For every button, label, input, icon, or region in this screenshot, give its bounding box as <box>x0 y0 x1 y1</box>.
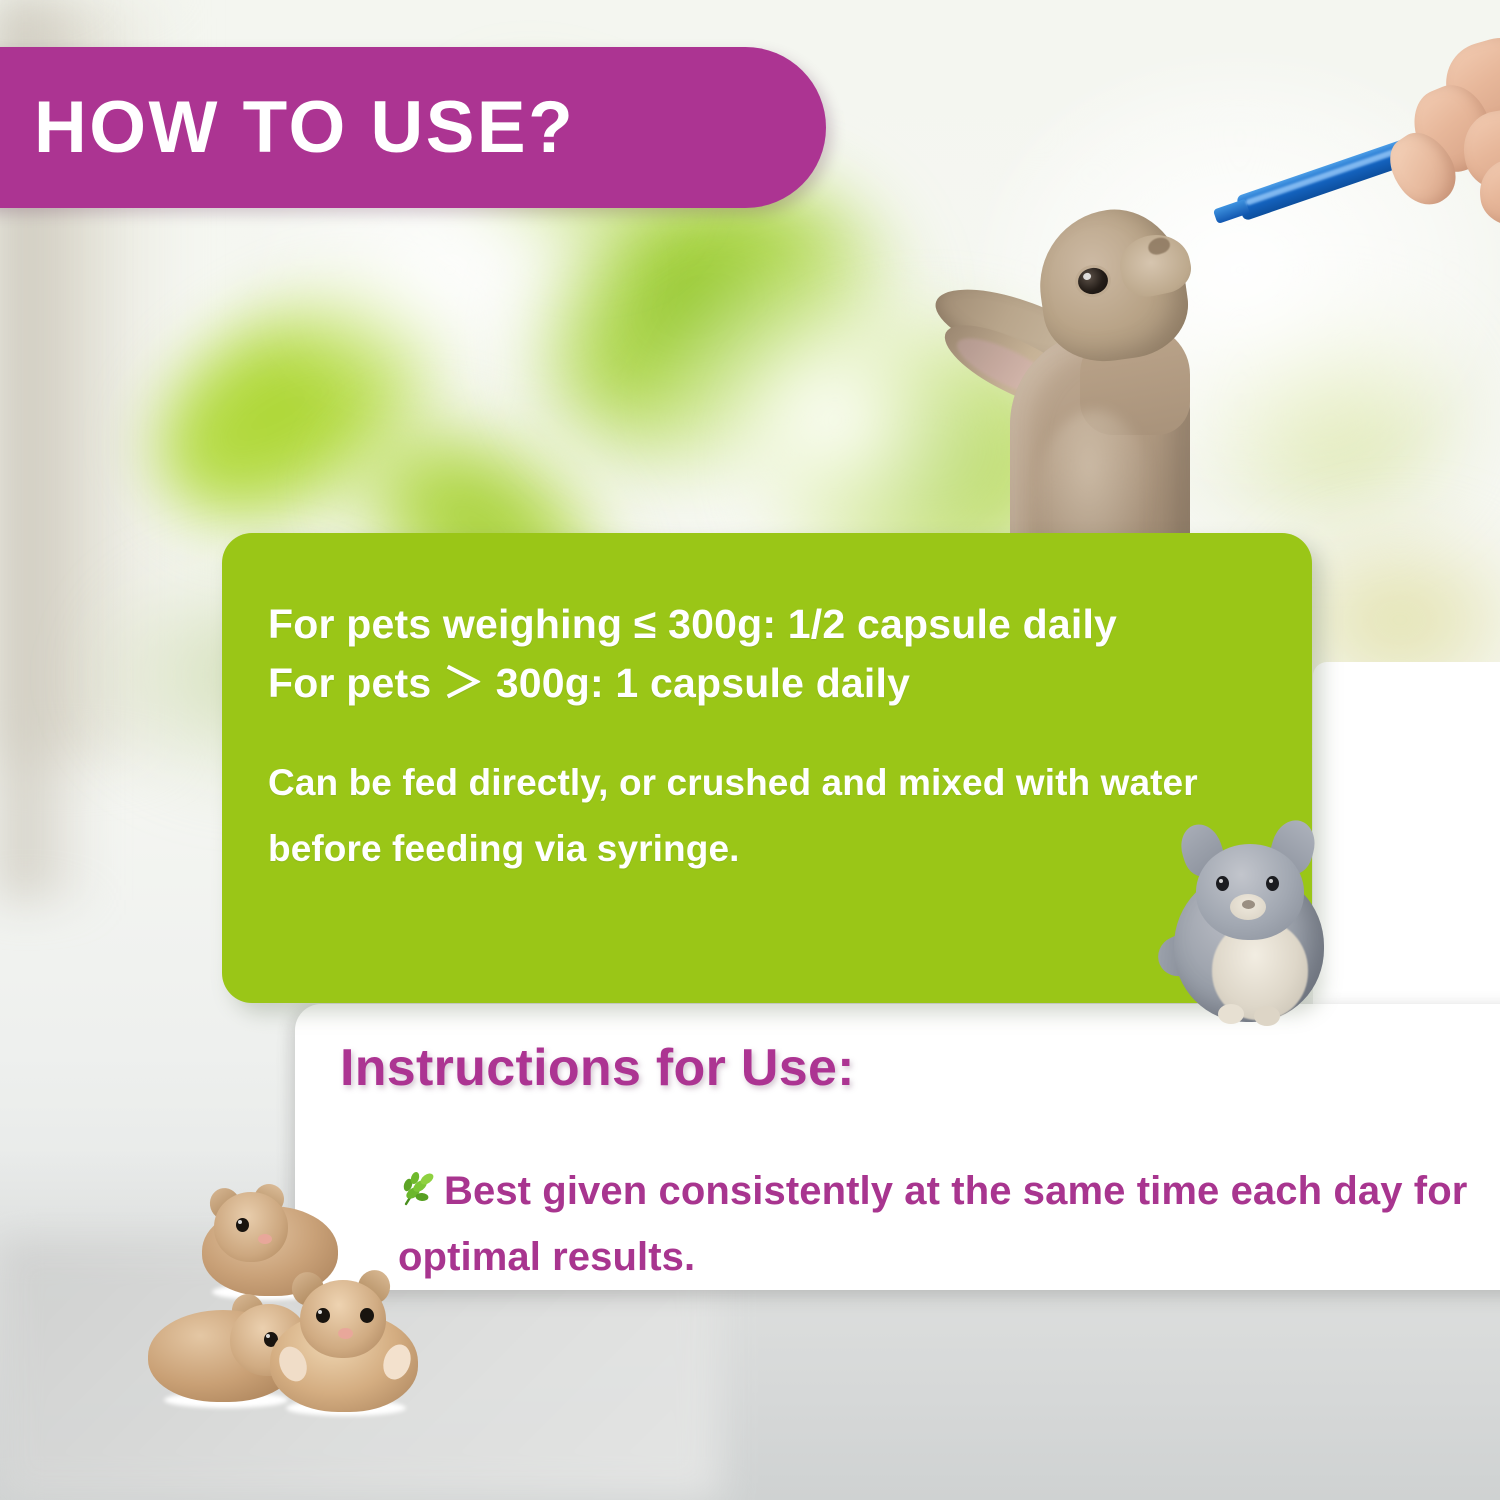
chinchilla-image <box>1158 808 1338 1043</box>
instructions-body-wrap: Best given consistently at the same time… <box>398 1158 1488 1291</box>
chinchilla-nose <box>1242 900 1255 909</box>
herb-leaf-icon <box>398 1164 442 1208</box>
rabbit-image <box>930 180 1350 580</box>
dosage-line-small-pets: For pets weighing ≤ 300g: 1/2 capsule da… <box>268 595 1312 654</box>
hamster-eye <box>236 1218 249 1232</box>
chinchilla-eye <box>1216 876 1229 891</box>
hamster-nose <box>338 1328 353 1339</box>
hamster-nose <box>258 1234 272 1244</box>
white-panel-right <box>1313 662 1500 1022</box>
page-title: HOW TO USE? <box>34 91 575 164</box>
dosage-note: Can be fed directly, or crushed and mixe… <box>268 750 1268 882</box>
chinchilla-head <box>1196 844 1304 940</box>
instructions-body-text: Best given consistently at the same time… <box>398 1169 1467 1279</box>
hamster-head <box>214 1192 288 1262</box>
how-to-use-banner: HOW TO USE? <box>0 47 826 208</box>
dosage-box: For pets weighing ≤ 300g: 1/2 capsule da… <box>222 533 1312 1003</box>
chinchilla-foot <box>1218 1004 1244 1024</box>
chinchilla-foot <box>1254 1006 1280 1026</box>
hamster-image <box>262 1272 442 1422</box>
dosage-line-large-pets: For pets ＞ 300g: 1 capsule daily <box>268 654 1312 713</box>
hamster-eye <box>316 1308 330 1323</box>
dosage-spacer <box>268 714 1312 750</box>
hamster-eye <box>360 1308 374 1323</box>
instructions-heading: Instructions for Use: <box>340 1042 855 1094</box>
hand-image <box>1380 28 1500 218</box>
chinchilla-eye <box>1266 876 1279 891</box>
